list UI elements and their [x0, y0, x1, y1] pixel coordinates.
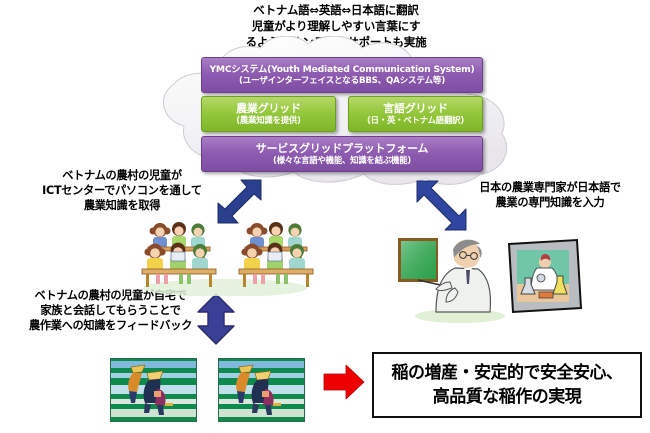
language-grid-title: 言語グリッド: [383, 102, 448, 115]
bottom-left-caption-line-3: 農作業への知識をフィードバック: [8, 318, 213, 333]
right-caption-line-2: 農業の専門知識を入力: [455, 195, 645, 210]
result-line-2: 高品質な稲作の実現: [392, 385, 623, 409]
left-caption-line-3: 農業知識を取得: [14, 198, 230, 213]
top-caption-line-1: ベトナム語⇔英語⇔日本語に翻訳: [196, 2, 476, 18]
agriculture-grid-box[interactable]: 農業グリッド (農業知識を提供): [201, 96, 336, 132]
children-at-desks-illustration: [130, 218, 320, 296]
rice-paddy-photo-left: [110, 358, 197, 422]
right-caption: 日本の農業専門家が日本語で 農業の専門知識を入力: [455, 180, 645, 210]
service-grid-platform-title: サービスグリッドプラットフォーム: [256, 142, 428, 155]
result-line-1: 稲の増産・安定的で安全安心、: [392, 361, 623, 385]
right-caption-line-1: 日本の農業専門家が日本語で: [455, 180, 645, 195]
double-vertical-arrow-icon: [193, 292, 239, 350]
top-caption-line-2: 児童がより理解しやすい言葉にす: [196, 18, 476, 34]
rice-paddy-photo-right: [218, 358, 305, 422]
laboratory-photo-illustration: [505, 238, 583, 316]
language-grid-subtitle: (日・英・ベトナム語翻訳): [367, 115, 464, 126]
bottom-left-caption-line-2: 家族と会話してもらうことで: [8, 303, 213, 318]
result-box: 稲の増産・安定的で安全安心、 高品質な稲作の実現: [372, 352, 642, 418]
left-caption-line-1: ベトナムの農村の児童が: [14, 168, 230, 183]
ymc-system-subtitle: (ユーザインターフェイスとなるBBS、QAシステム等): [239, 76, 445, 87]
ymc-system-box[interactable]: YMCシステム(Youth Mediated Communication Sys…: [201, 57, 483, 93]
language-grid-box[interactable]: 言語グリッド (日・英・ベトナム語翻訳): [348, 96, 483, 132]
left-caption: ベトナムの農村の児童が ICTセンターでパソコンを通して 農業知識を取得: [14, 168, 230, 213]
service-grid-platform-subtitle: (様々な言語や機能、知識を結ぶ機能): [273, 155, 411, 166]
left-caption-line-2: ICTセンターでパソコンを通して: [14, 183, 230, 198]
red-right-arrow-icon: [322, 362, 366, 406]
agriculture-grid-subtitle: (農業知識を提供): [236, 115, 300, 126]
ymc-system-title: YMCシステム(Youth Mediated Communication Sys…: [209, 64, 474, 76]
agriculture-grid-title: 農業グリッド: [236, 102, 301, 115]
service-grid-platform-box[interactable]: サービスグリッドプラットフォーム (様々な言語や機能、知識を結ぶ機能): [201, 136, 483, 172]
